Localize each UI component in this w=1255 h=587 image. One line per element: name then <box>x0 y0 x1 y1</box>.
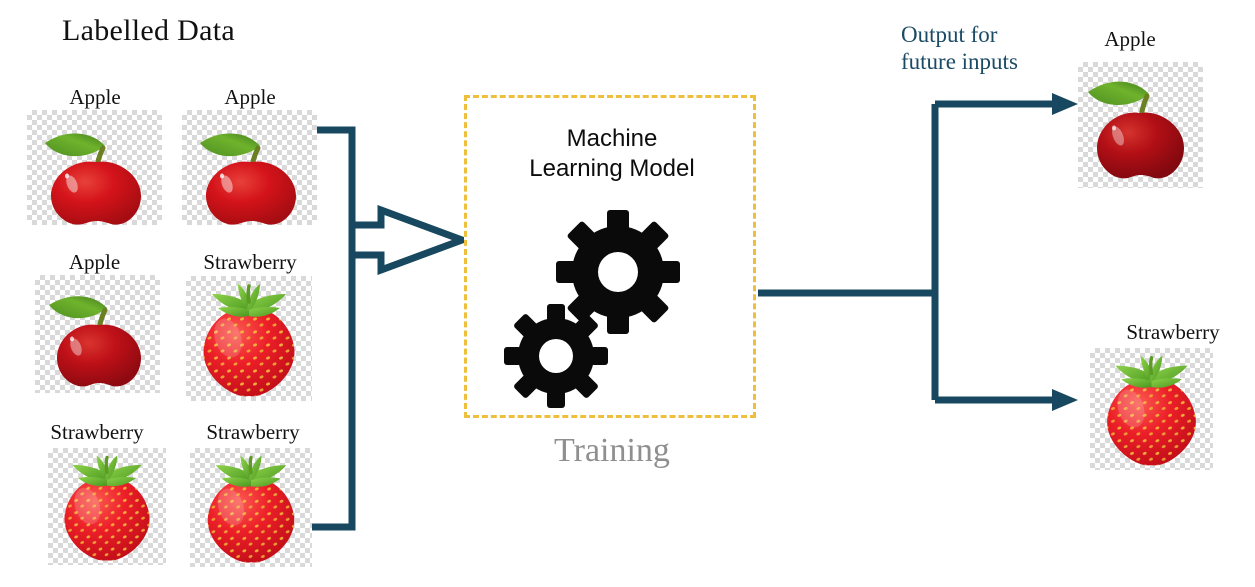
sample-image-apple-2 <box>182 110 317 225</box>
strawberry-icon <box>48 448 166 565</box>
sample-image-apple-3 <box>35 275 160 393</box>
sample-image-strawberry-1 <box>186 276 312 401</box>
output-image-apple <box>1078 62 1203 188</box>
sample-label-apple-1: Apple <box>25 85 165 110</box>
output-arrowhead-top <box>1052 93 1078 115</box>
training-caption: Training <box>466 432 758 470</box>
output-caption-line2: future inputs <box>901 48 1051 75</box>
output-caption-line1: Output for <box>901 21 1051 48</box>
output-label-strawberry: Strawberry <box>1098 320 1248 345</box>
sample-label-apple-2: Apple <box>180 85 320 110</box>
output-caption: Output for future inputs <box>901 21 1051 75</box>
sample-label-strawberry-2: Strawberry <box>22 420 172 445</box>
sample-image-strawberry-3 <box>190 448 312 567</box>
model-title-line2: Learning Model <box>466 154 758 184</box>
sample-label-strawberry-3: Strawberry <box>178 420 328 445</box>
apple-icon <box>27 110 162 225</box>
sample-label-strawberry-1: Strawberry <box>180 250 320 275</box>
apple-icon <box>182 110 317 225</box>
output-image-strawberry <box>1090 348 1213 470</box>
strawberry-icon <box>1090 348 1213 470</box>
model-title: Machine Learning Model <box>466 124 758 184</box>
strawberry-icon <box>190 448 312 567</box>
diagram-canvas: Labelled Data Apple <box>0 0 1255 587</box>
page-title: Labelled Data <box>62 14 235 48</box>
training-block-arrow <box>352 210 462 270</box>
apple-icon <box>1078 62 1203 188</box>
output-label-apple: Apple <box>1070 27 1190 52</box>
gears-icon <box>500 208 700 413</box>
output-arrowhead-bottom <box>1052 389 1078 411</box>
sample-image-apple-1 <box>27 110 162 225</box>
strawberry-icon <box>186 276 312 401</box>
sample-label-apple-3: Apple <box>27 250 162 275</box>
model-title-line1: Machine <box>466 124 758 154</box>
apple-icon <box>35 275 160 393</box>
sample-image-strawberry-2 <box>48 448 166 565</box>
